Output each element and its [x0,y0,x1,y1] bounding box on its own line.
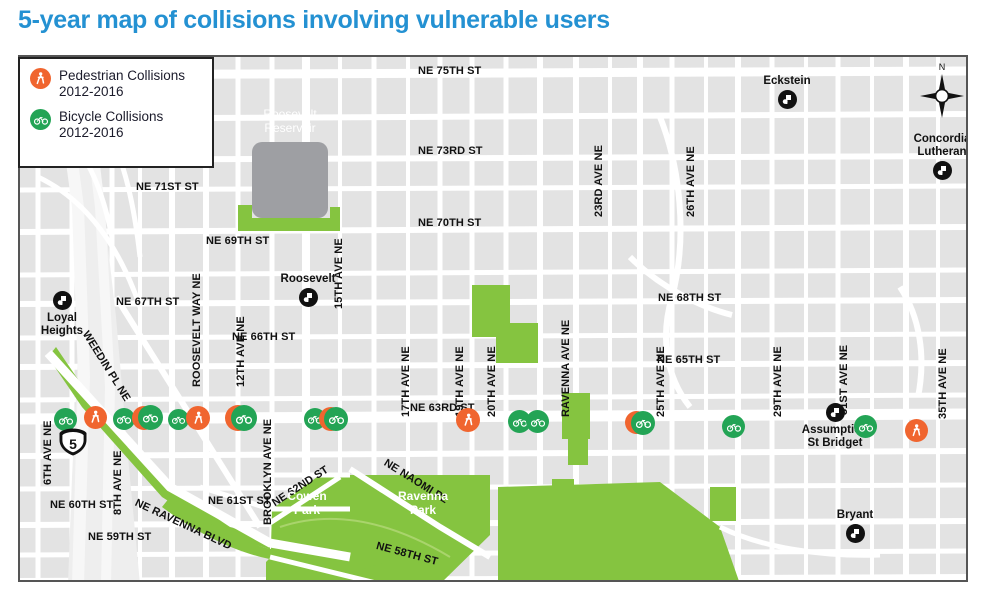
interstate-number: 5 [58,436,88,452]
bicycle-icon [329,414,344,424]
landmark-loyal-heights-line1: Loyal [20,312,104,325]
bicycle-icon [236,413,252,424]
street-label-ne-73rd: NE 73RD ST [418,145,483,157]
reservoir-label: Roosevelt Reservoir [252,107,328,135]
bicycle-icon [117,414,131,424]
ravenna-park-line1: Ravenna [378,489,468,503]
pedestrian-icon [194,411,203,426]
landmark-loyal-heights[interactable]: Loyal Heights [20,291,104,338]
street-label-ne-71st: NE 71ST ST [136,181,199,193]
street-label-19th-ave: 19TH AVE NE [454,346,466,417]
school-icon [299,288,318,307]
street-label-20th-ave: 20TH AVE NE [486,346,498,417]
reservoir-label-line2: Reservoir [252,121,328,135]
ravenna-park-label: Ravenna Park [378,489,468,517]
street-label-25th-ave: 25TH AVE NE [655,346,667,417]
map-legend: Pedestrian Collisions 2012-2016 Bicycle … [18,57,214,168]
collision-marker-bike[interactable] [631,411,655,435]
cowen-park-label: Cowen Park [264,489,350,517]
compass-icon [918,72,966,120]
school-icon [826,403,845,422]
legend-label-bicycle: Bicycle Collisions [59,109,163,124]
collision-marker-bike[interactable] [722,415,745,438]
street-label-35th-ave: 35TH AVE NE [937,348,949,419]
collision-marker-bike[interactable] [526,410,549,433]
bicycle-icon [143,412,158,423]
collision-marker-bike[interactable] [324,407,348,431]
landmark-bryant-line1: Bryant [810,509,900,522]
cowen-park-line1: Cowen [264,489,350,503]
street-label-17th-ave: 17TH AVE NE [400,346,412,417]
collision-marker-bike[interactable] [854,415,877,438]
compass-rose: N [918,62,966,125]
landmark-concordia-lutheran[interactable]: Concordia Lutheran [892,133,968,180]
street-label-roosevelt-way: ROOSEVELT WAY NE [191,273,203,387]
ravenna-park-line2: Park [378,503,468,517]
school-icon [933,161,952,180]
street-label-12th-ave: 12TH AVE NE [235,316,247,387]
legend-years-pedestrian: 2012-2016 [59,84,185,100]
map-page: 5-year map of collisions involving vulne… [0,0,986,591]
street-label-ne-70th: NE 70TH ST [418,217,481,229]
landmark-concordia-line1: Concordia [892,133,968,146]
collision-marker-bike[interactable] [231,405,257,431]
street-label-6th-ave: 6TH AVE NE [42,420,54,485]
bicycle-icon [172,415,185,424]
collision-marker-pedestrian[interactable] [456,408,480,432]
bicycle-icon [531,417,545,427]
street-label-ne-60th: NE 60TH ST [50,499,113,511]
pedestrian-icon [91,410,100,425]
street-label-ne-68th: NE 68TH ST [658,292,721,304]
legend-years-bicycle: 2012-2016 [59,125,163,141]
collision-marker-pedestrian[interactable] [186,406,210,430]
reservoir-label-line1: Roosevelt [252,107,328,121]
street-label-8th-ave: 8TH AVE NE [112,450,124,515]
bicycle-icon [30,109,51,130]
collision-marker-pedestrian[interactable] [84,406,107,429]
street-label-ravenna-ave: RAVENNA AVE NE [560,320,572,417]
bicycle-icon [59,415,73,425]
collision-marker-pedestrian[interactable] [905,419,928,442]
landmark-eckstein-line1: Eckstein [732,75,842,88]
landmark-loyal-heights-line2: Heights [20,325,104,338]
bicycle-icon [513,417,527,427]
page-title: 5-year map of collisions involving vulne… [18,6,610,35]
bicycle-icon [636,418,651,428]
street-label-ne-69th: NE 69TH ST [206,235,269,247]
street-label-23rd-ave: 23RD AVE NE [593,145,605,217]
legend-label-pedestrian: Pedestrian Collisions [59,68,185,83]
pedestrian-icon [464,413,473,428]
pedestrian-icon [912,424,921,438]
legend-item-pedestrian: Pedestrian Collisions 2012-2016 [30,68,202,100]
landmark-roosevelt[interactable]: Roosevelt [258,273,358,307]
landmark-roosevelt-line1: Roosevelt [258,273,358,286]
school-icon [53,291,72,310]
street-label-ne-59th: NE 59TH ST [88,531,151,543]
street-label-ne-75th: NE 75TH ST [418,65,481,77]
school-icon [778,90,797,109]
compass-north-label: N [918,62,966,72]
collision-marker-bike[interactable] [138,405,163,430]
interstate-5-shield: 5 [58,427,88,462]
landmark-eckstein[interactable]: Eckstein [732,75,842,109]
street-label-ne-67th: NE 67TH ST [116,296,179,308]
cowen-park-line2: Park [264,503,350,517]
landmark-concordia-line2: Lutheran [892,146,968,159]
street-label-26th-ave: 26TH AVE NE [685,146,697,217]
bicycle-icon [859,422,873,432]
landmark-assumption-line2: St Bridget [780,437,890,450]
landmark-bryant[interactable]: Bryant [810,509,900,543]
bicycle-icon [727,422,741,432]
pedestrian-icon [30,68,51,89]
legend-item-bicycle: Bicycle Collisions 2012-2016 [30,109,202,141]
school-icon [846,524,865,543]
